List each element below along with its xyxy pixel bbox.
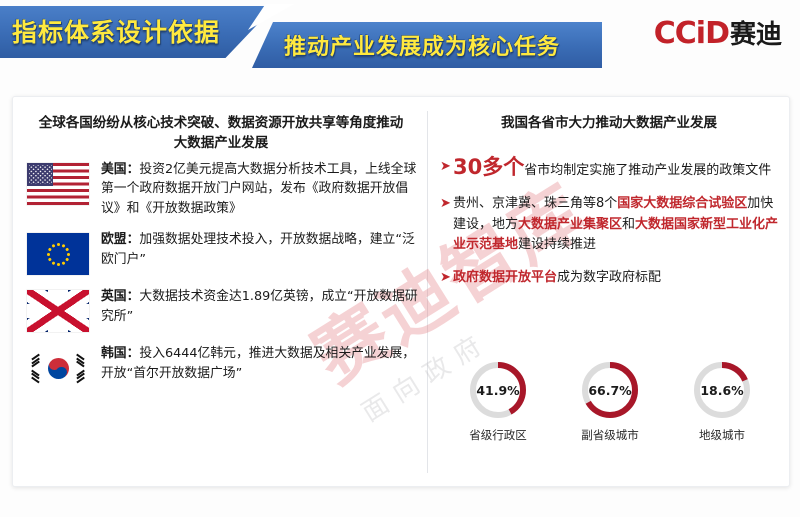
bullet-3-highlight: 政府数据开放平台 [453,270,557,285]
banner-title-secondary: 推动产业发展成为核心任务 [252,22,602,68]
uk-flag-icon [27,290,89,332]
country-name-uk: 英国： [101,289,139,304]
country-text-us: 美国：投资2亿美元提高大数据分析技术工具，上线全球第一个政府数据开放门户网站，发… [101,159,419,218]
list-item: 欧盟：加强数据处理技术投入，开放数据战略，建立“泛欧门户” [27,229,419,275]
kr-flag-icon [27,347,89,389]
donut-ring-2: 18.6% [691,359,753,421]
left-panel: 全球各国纷纷从核心技术突破、数据资源开放共享等角度推动大数据产业发展 美国：投资… [13,97,427,486]
list-item: 韩国：投入6444亿韩元，推进大数据及相关产业发展，开放“首尔开放数据广场” [27,343,419,389]
donut-chart-1: 66.7% 副省级城市 [560,359,660,443]
content-card: 赛迪智库 面向政府 全球各国纷纷从核心技术突破、数据资源开放共享等角度推动大数据… [12,96,790,487]
arrow-icon: ➤ [440,157,453,177]
us-flag-canton [27,163,53,186]
bullet-2-seg2: 国家大数据综合试验区 [617,196,747,211]
right-panel-title: 我国各省市大力推动大数据产业发展 [442,113,776,133]
country-text-eu: 欧盟：加强数据处理技术投入，开放数据战略，建立“泛欧门户” [101,229,419,269]
eu-flag-stars [46,242,70,266]
list-item: 英国：大数据技术资金达1.89亿英镑，成立“开放数据研究所” [27,286,419,332]
bullet-text-2: 贵州、京津冀、珠三角等8个国家大数据综合试验区加快建设，地方大数据产业集聚区和大… [453,194,780,255]
donut-value-1: 66.7% [579,359,641,421]
bullet-2-seg1: 贵州、京津冀、珠三角等8个 [453,196,617,211]
donut-label-2: 地级城市 [672,427,772,443]
slide-root: 指标体系设计依据 推动产业发展成为核心任务 CCiD 赛迪 赛迪智库 面向政府 … [0,0,800,517]
eu-flag-icon [27,233,89,275]
banner-title-primary: 指标体系设计依据 [0,6,275,58]
bullet-text-3: 政府数据开放平台成为数字政府标配 [453,268,780,288]
donut-chart-0: 41.9% 省级行政区 [448,359,548,443]
donut-label-1: 副省级城市 [560,427,660,443]
ccid-logo: CCiD 赛迪 [654,14,782,51]
donut-ring-0: 41.9% [467,359,529,421]
donut-label-0: 省级行政区 [448,427,548,443]
donut-chart-2: 18.6% 地级城市 [672,359,772,443]
arrow-icon: ➤ [440,268,453,288]
banner-title-secondary-label: 推动产业发展成为核心任务 [284,29,560,61]
bullet-2-seg7: 建设持续推进 [518,237,596,252]
country-name-eu: 欧盟： [101,232,139,247]
country-list: 美国：投资2亿美元提高大数据分析技术工具，上线全球第一个政府数据开放门户网站，发… [27,159,419,400]
logo-latin-text: CCiD [654,16,729,51]
banner-title-primary-label: 指标体系设计依据 [12,13,220,49]
logo-chinese-text: 赛迪 [730,14,782,51]
country-text-uk: 英国：大数据技术资金达1.89亿英镑，成立“开放数据研究所” [101,286,419,326]
us-flag-icon [27,163,89,205]
bullet-2-seg5: 和 [622,217,635,232]
country-desc-kr: 投入6444亿韩元，推进大数据及相关产业发展，开放“首尔开放数据广场” [101,346,415,380]
left-panel-title: 全球各国纷纷从核心技术突破、数据资源开放共享等角度推动大数据产业发展 [35,113,407,154]
right-panel: 我国各省市大力推动大数据产业发展 ➤ 30多个省市均制定实施了推动产业发展的政策… [428,97,789,486]
list-item: ➤ 贵州、京津冀、珠三角等8个国家大数据综合试验区加快建设，地方大数据产业集聚区… [440,194,780,255]
bullet-3-rest: 成为数字政府标配 [557,270,661,285]
donut-chart-group: 41.9% 省级行政区 66.7% 副省级城市 [442,359,778,443]
country-desc-us: 投资2亿美元提高大数据分析技术工具，上线全球第一个政府数据开放门户网站，发布《政… [101,162,416,216]
kr-flag-taeguk [48,358,69,379]
arrow-icon: ➤ [440,194,453,214]
donut-value-2: 18.6% [691,359,753,421]
bullet-text-1: 30多个省市均制定实施了推动产业发展的政策文件 [453,157,780,181]
bullet-2-seg4: 大数据产业集聚区 [518,217,622,232]
donut-value-0: 41.9% [467,359,529,421]
country-name-kr: 韩国： [101,346,139,361]
bullet-list: ➤ 30多个省市均制定实施了推动产业发展的政策文件 ➤ 贵州、京津冀、珠三角等8… [440,157,780,301]
donut-ring-1: 66.7% [579,359,641,421]
country-desc-eu: 加强数据处理技术投入，开放数据战略，建立“泛欧门户” [101,232,415,266]
country-desc-uk: 大数据技术资金达1.89亿英镑，成立“开放数据研究所” [101,289,418,323]
country-text-kr: 韩国：投入6444亿韩元，推进大数据及相关产业发展，开放“首尔开放数据广场” [101,343,419,383]
bullet-1-rest: 省市均制定实施了推动产业发展的政策文件 [524,163,771,178]
list-item: ➤ 30多个省市均制定实施了推动产业发展的政策文件 [440,157,780,181]
country-name-us: 美国： [101,162,139,177]
list-item: 美国：投资2亿美元提高大数据分析技术工具，上线全球第一个政府数据开放门户网站，发… [27,159,419,218]
bullet-1-highlight: 30多个 [453,155,524,179]
list-item: ➤ 政府数据开放平台成为数字政府标配 [440,268,780,288]
